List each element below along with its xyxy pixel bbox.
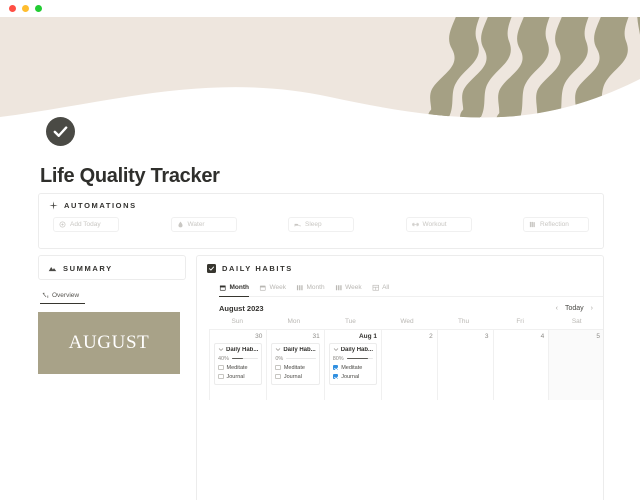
summary-panel: SUMMARY Overview AUGUST — [38, 255, 186, 374]
view-tab-month-board-label: Month — [307, 284, 325, 291]
habit-card-title-label: Daily Hab... — [283, 347, 315, 353]
plus-circle-icon — [59, 221, 66, 228]
view-tab-all-table[interactable]: All — [372, 284, 390, 297]
automation-sleep-button[interactable]: Sleep — [288, 217, 354, 232]
calendar-day-number: 31 — [271, 333, 319, 340]
calendar-toolbar: August 2023 ‹ Today › — [219, 304, 593, 313]
automations-header: AUTOMATIONS — [39, 194, 603, 210]
habit-item-row[interactable]: Journal — [333, 374, 373, 380]
close-button[interactable] — [9, 5, 16, 12]
habit-progress-bar — [232, 358, 258, 360]
calendar-today-button[interactable]: Today — [565, 305, 584, 312]
calendar-day-number: 3 — [442, 333, 489, 340]
table-icon — [372, 284, 380, 292]
calendar-day-number: Aug 1 — [329, 333, 377, 340]
calendar-prev-button[interactable]: ‹ — [556, 305, 558, 312]
automations-header-label: AUTOMATIONS — [64, 201, 137, 210]
habit-item-row[interactable]: Meditate — [218, 365, 258, 371]
weekday-wed: Wed — [379, 318, 436, 329]
calendar-icon — [259, 284, 267, 292]
habit-item-checkbox[interactable] — [275, 365, 281, 371]
check-circle-icon — [46, 117, 75, 146]
month-banner: AUGUST — [38, 312, 180, 374]
calendar-day-cell[interactable]: 3 — [438, 330, 494, 400]
maximize-button[interactable] — [35, 5, 42, 12]
habit-progress-percent: 80% — [333, 356, 344, 362]
chevron-collapse-icon — [275, 347, 281, 353]
habit-item-row[interactable]: Meditate — [275, 365, 315, 371]
calendar-day-number: 30 — [214, 333, 262, 340]
habit-item-row[interactable]: Meditate — [333, 365, 373, 371]
habit-card-title: Daily Hab... — [275, 347, 315, 353]
view-tabs: Month Week Month — [219, 284, 603, 297]
habit-item-checkbox[interactable] — [218, 365, 224, 371]
habit-card-title: Daily Hab... — [333, 347, 373, 353]
calendar-day-number: 4 — [498, 333, 545, 340]
weekday-sun: Sun — [209, 318, 266, 329]
summary-card: SUMMARY — [38, 255, 186, 280]
summary-header-label: SUMMARY — [63, 264, 113, 273]
habit-progress: 0% — [275, 356, 315, 362]
calendar-day-cell[interactable]: 2 — [382, 330, 438, 400]
automation-water-label: Water — [188, 221, 205, 228]
habit-progress: 40% — [218, 356, 258, 362]
habit-card-title-label: Daily Hab... — [341, 347, 373, 353]
habit-card[interactable]: Daily Hab...40%MeditateJournal — [214, 343, 262, 385]
summary-tab-overview[interactable]: Overview — [40, 292, 85, 304]
calendar-day-number: 5 — [553, 333, 600, 340]
view-tab-month-calendar[interactable]: Month — [219, 284, 249, 297]
chevron-collapse-icon — [333, 347, 339, 353]
view-tab-week-calendar-label: Week — [270, 284, 287, 291]
automation-reflection-button[interactable]: Reflection — [523, 217, 589, 232]
bed-icon — [294, 221, 301, 228]
page-title: Life Quality Tracker — [40, 165, 220, 188]
calendar-day-cell[interactable]: Aug 1Daily Hab...80%MeditateJournal — [325, 330, 382, 400]
habit-progress-bar — [347, 358, 373, 360]
hero-banner — [0, 17, 640, 137]
minimize-button[interactable] — [22, 5, 29, 12]
dumbbell-icon — [412, 221, 419, 228]
automation-buttons: Add Today Water Sleep — [39, 217, 603, 232]
calendar-day-cell[interactable]: 30Daily Hab...40%MeditateJournal — [209, 330, 267, 400]
automations-panel: AUTOMATIONS Add Today Water — [38, 193, 604, 249]
habit-progress-percent: 0% — [275, 356, 283, 362]
habit-card[interactable]: Daily Hab...0%MeditateJournal — [271, 343, 319, 385]
daily-habits-header-label: DAILY HABITS — [222, 264, 293, 273]
window-titlebar — [0, 0, 640, 17]
habit-item-label: Meditate — [341, 365, 362, 371]
habit-item-row[interactable]: Journal — [275, 374, 315, 380]
calendar-weekday-header: Sun Mon Tue Wed Thu Fri Sat — [209, 318, 604, 329]
habit-item-checkbox[interactable] — [333, 374, 339, 380]
calendar-next-button[interactable]: › — [591, 305, 593, 312]
daily-habits-panel: DAILY HABITS Month Week — [196, 255, 604, 500]
automation-add-today-button[interactable]: Add Today — [53, 217, 119, 232]
calendar-grid: 30Daily Hab...40%MeditateJournal31Daily … — [209, 329, 604, 400]
mountain-icon — [48, 264, 57, 273]
automation-add-today-label: Add Today — [70, 221, 101, 228]
view-tab-all-table-label: All — [382, 284, 389, 291]
habit-card[interactable]: Daily Hab...80%MeditateJournal — [329, 343, 377, 385]
summary-tab-overview-label: Overview — [52, 292, 79, 299]
habit-item-row[interactable]: Journal — [218, 374, 258, 380]
automation-water-button[interactable]: Water — [171, 217, 237, 232]
calendar-day-number: 2 — [386, 333, 433, 340]
calendar-icon — [219, 284, 227, 292]
habit-progress: 80% — [333, 356, 373, 362]
habit-item-checkbox[interactable] — [275, 374, 281, 380]
board-icon — [296, 284, 304, 292]
checkbox-icon — [207, 264, 216, 273]
summary-tabs: Overview — [38, 292, 186, 304]
habit-card-title-label: Daily Hab... — [226, 347, 258, 353]
calendar-day-cell[interactable]: 5 — [549, 330, 604, 400]
habit-progress-bar — [286, 358, 315, 360]
month-banner-label: AUGUST — [69, 332, 150, 354]
automation-reflection-label: Reflection — [540, 221, 569, 228]
board-icon — [335, 284, 343, 292]
weekday-sat: Sat — [548, 318, 604, 329]
habit-item-label: Meditate — [227, 365, 248, 371]
automation-workout-label: Workout — [423, 221, 447, 228]
habit-progress-percent: 40% — [218, 356, 229, 362]
weekday-fri: Fri — [492, 318, 549, 329]
habit-item-label: Journal — [341, 374, 359, 380]
habit-item-checkbox[interactable] — [218, 374, 224, 380]
book-icon — [529, 221, 536, 228]
calendar-month-title: August 2023 — [219, 304, 264, 313]
view-tab-week-board[interactable]: Week — [335, 284, 362, 297]
habit-item-label: Meditate — [284, 365, 305, 371]
chevron-collapse-icon — [218, 347, 224, 353]
chart-icon — [42, 292, 49, 299]
view-tab-week-calendar[interactable]: Week — [259, 284, 286, 297]
habit-card-title: Daily Hab... — [218, 347, 258, 353]
daily-habits-header: DAILY HABITS — [197, 256, 603, 273]
habit-item-label: Journal — [284, 374, 302, 380]
automation-sleep-label: Sleep — [305, 221, 322, 228]
droplet-icon — [177, 221, 184, 228]
summary-header: SUMMARY — [39, 256, 185, 273]
view-tab-month-calendar-label: Month — [230, 284, 250, 291]
calendar-navigation: ‹ Today › — [556, 305, 593, 312]
sparkle-icon — [49, 201, 58, 210]
calendar-day-cell[interactable]: 4 — [494, 330, 550, 400]
habit-item-checkbox[interactable] — [333, 365, 339, 371]
weekday-mon: Mon — [266, 318, 323, 329]
calendar-day-cell[interactable]: 31Daily Hab...0%MeditateJournal — [267, 330, 324, 400]
view-tab-month-board[interactable]: Month — [296, 284, 325, 297]
view-tab-week-board-label: Week — [345, 284, 362, 291]
weekday-thu: Thu — [435, 318, 492, 329]
habit-item-label: Journal — [227, 374, 245, 380]
automation-workout-button[interactable]: Workout — [406, 217, 472, 232]
weekday-tue: Tue — [322, 318, 379, 329]
